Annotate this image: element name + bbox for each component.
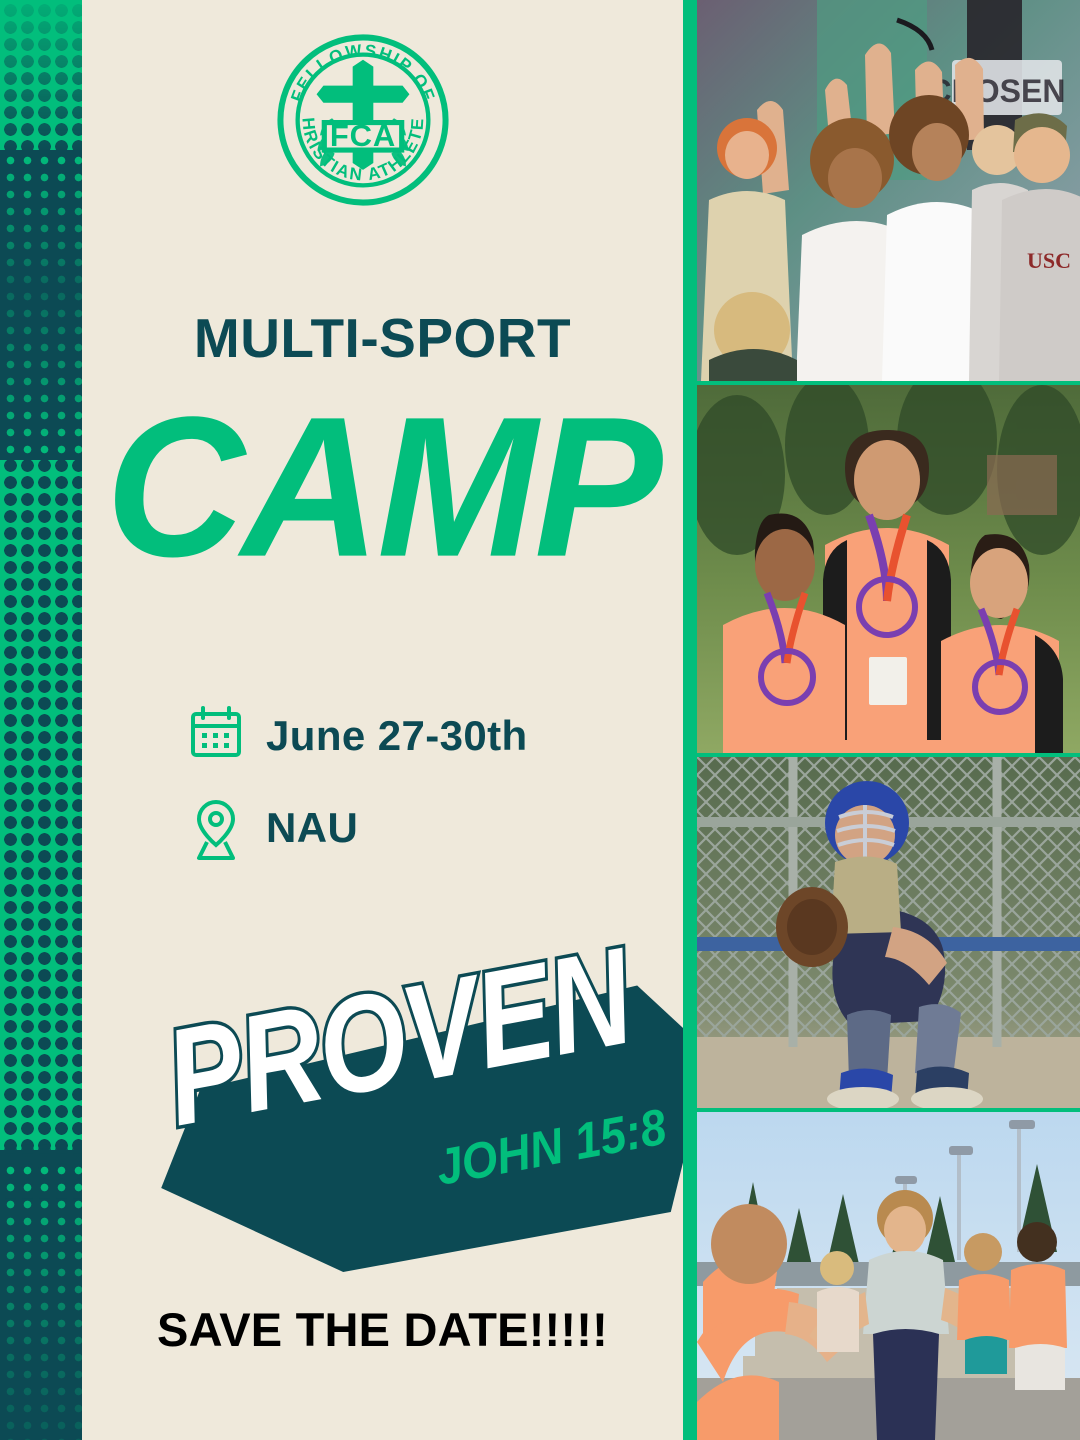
theme-badge: PROVEN JOHN 15:8 [150,975,710,1275]
location-pin-icon [190,798,242,858]
content-column: FELLOWSHIP OF CHRISTIAN ATHLETES [82,0,683,1440]
event-date-label: June 27-30th [266,715,528,757]
kicker-headline: MULTI-SPORT [82,311,683,366]
svg-text:FCA: FCA [330,118,396,153]
halftone-stripe-decoration [0,0,82,1440]
event-location-label: NAU [266,807,358,849]
halftone-dots-light-lower [0,1160,82,1440]
save-the-date-callout: SAVE THE DATE!!!!! [82,1306,683,1353]
photo-three-campers-lanyards [697,385,1080,753]
photo-column: CHOSEN [683,0,1080,1440]
detail-row-location: NAU [190,798,528,858]
photo-high-five-tunnel [697,1112,1080,1440]
svg-text:USC: USC [1027,248,1071,273]
detail-row-date: June 27-30th [190,706,528,766]
camp-flyer-poster: FELLOWSHIP OF CHRISTIAN ATHLETES [0,0,1080,1440]
main-headline: CAMP [52,388,713,588]
halftone-dots-dark-top [0,0,82,152]
photo-softball-catcher [697,757,1080,1108]
event-details-block: June 27-30th NAU [190,706,528,890]
fca-logo: FELLOWSHIP OF CHRISTIAN ATHLETES [277,34,449,206]
photo-worship-hands-raised: CHOSEN [697,0,1080,381]
calendar-icon [190,706,242,766]
